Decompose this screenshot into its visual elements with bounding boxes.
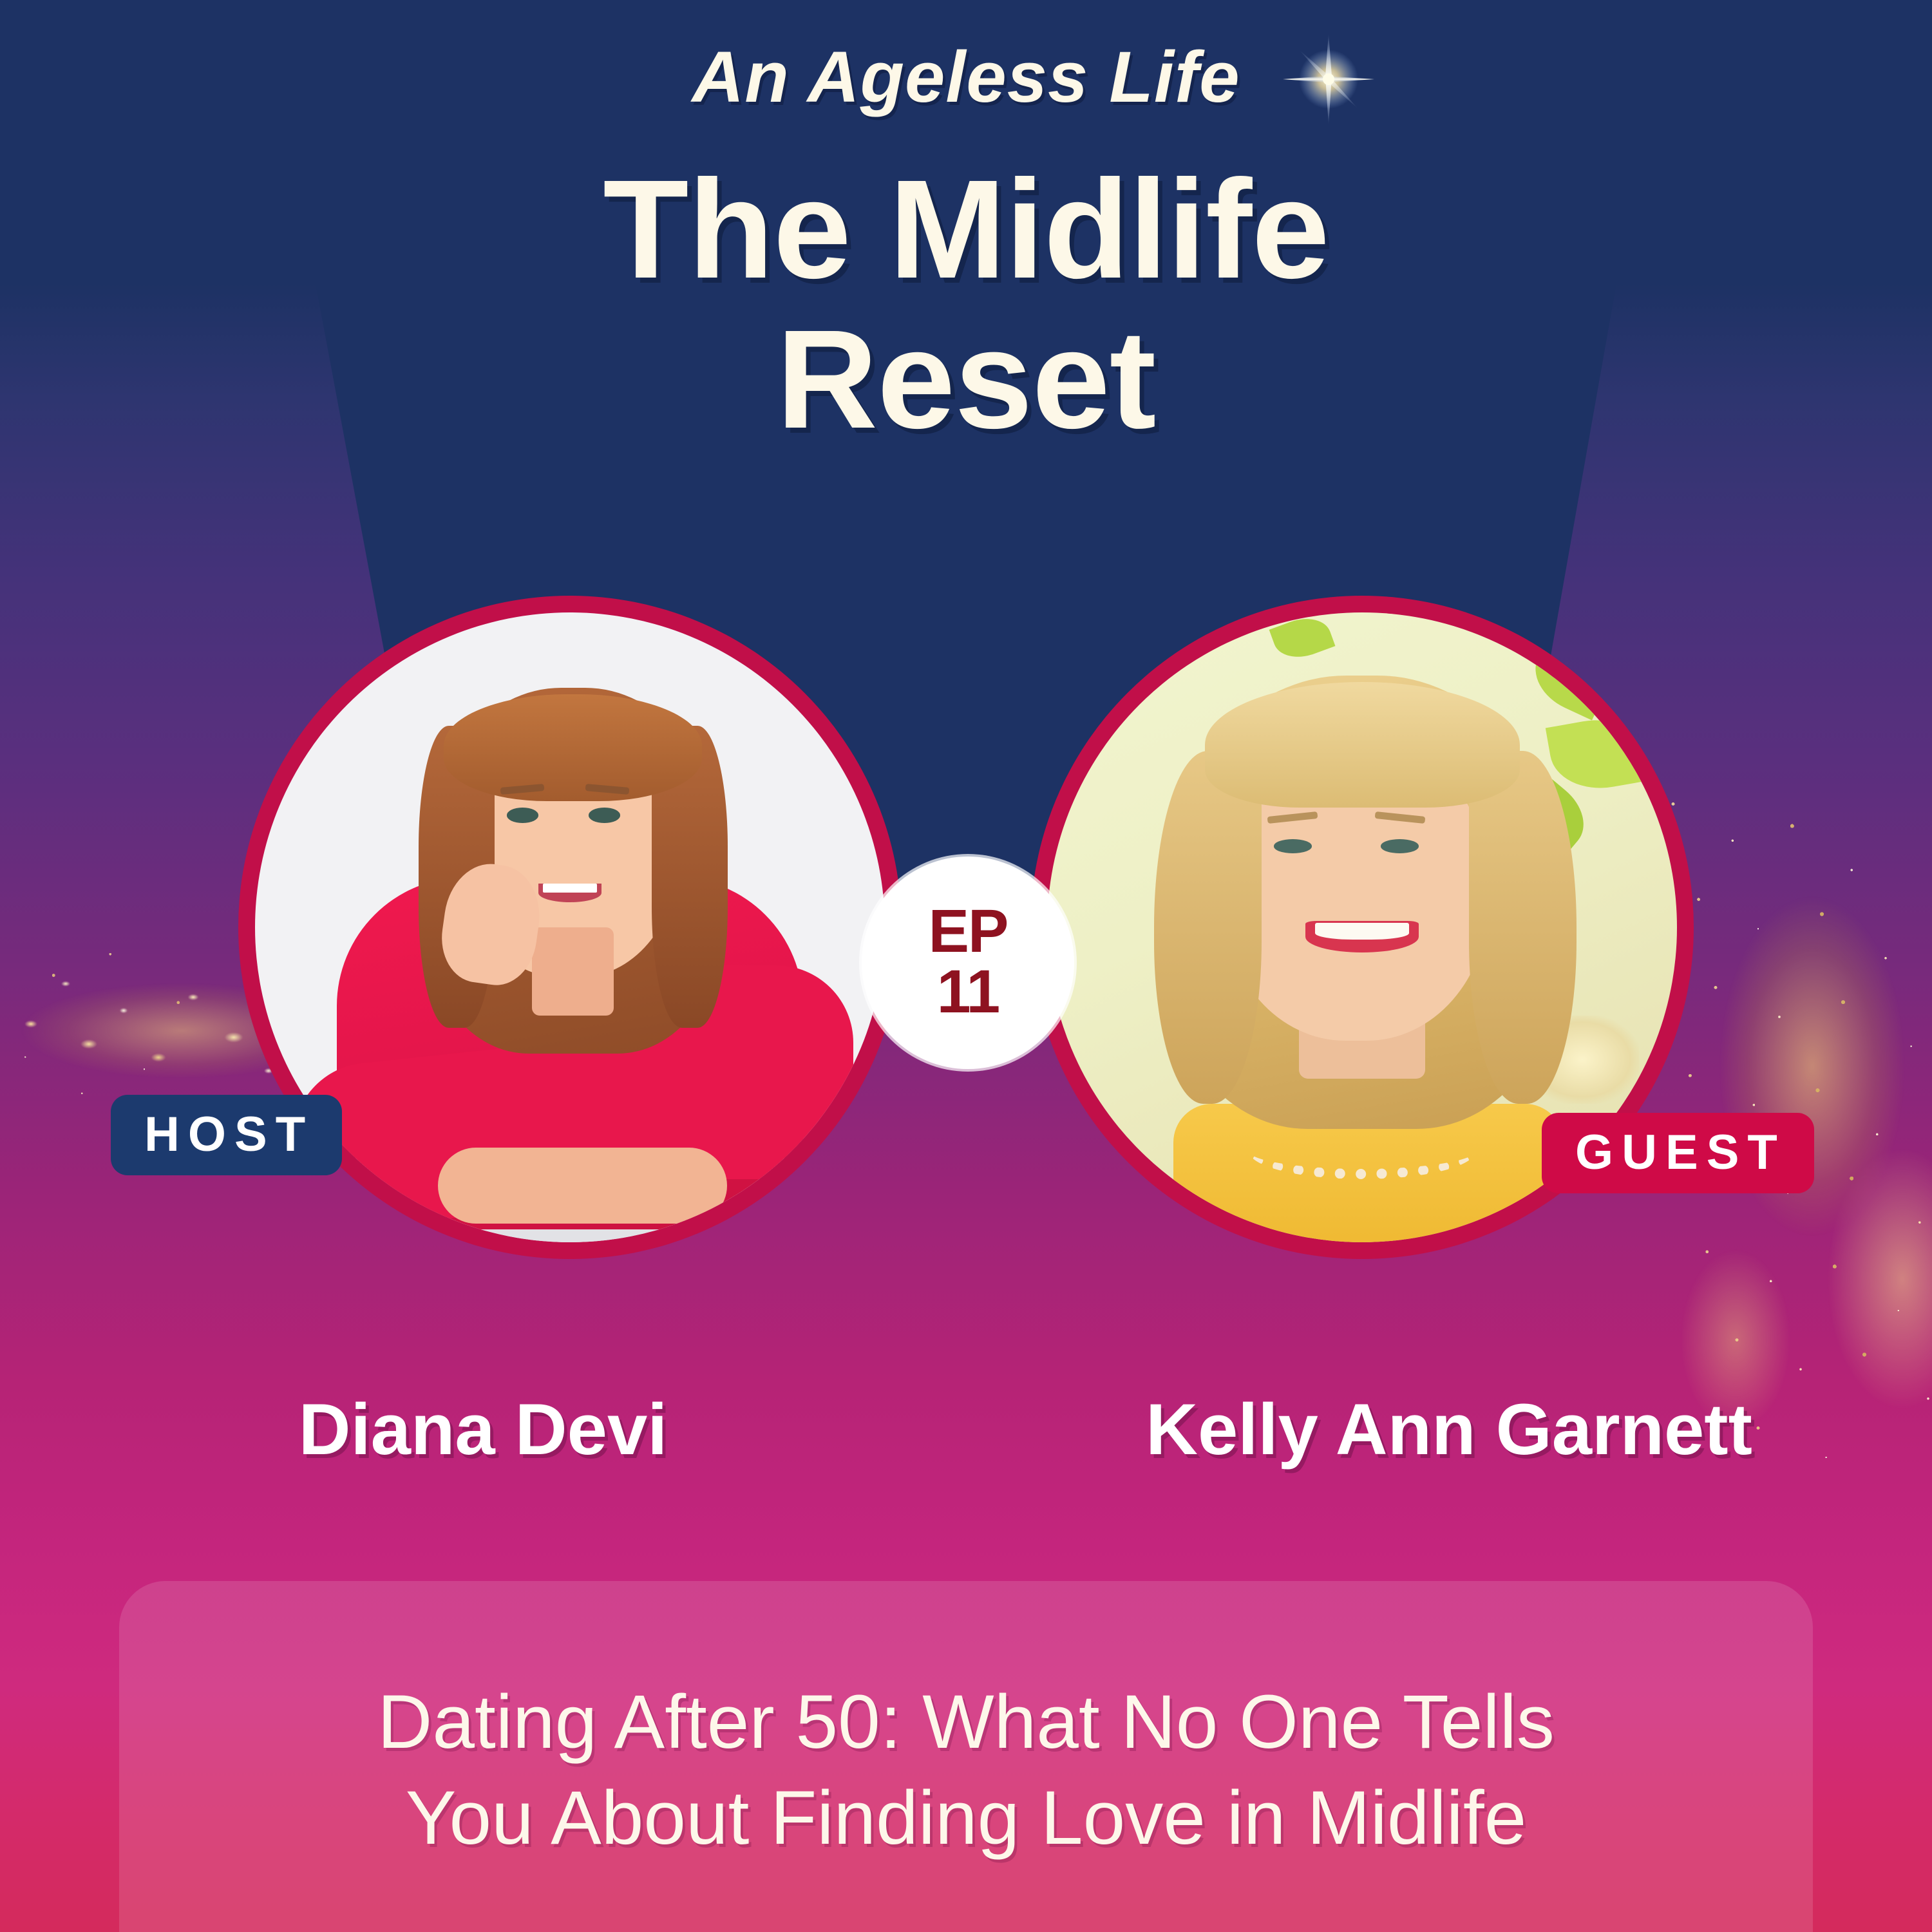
episode-title-line2: You About Finding Love in Midlife bbox=[119, 1770, 1813, 1866]
sparkle-star-icon bbox=[1280, 31, 1377, 128]
host-forearm bbox=[438, 1148, 728, 1223]
host-name: Diana Devi bbox=[0, 1388, 966, 1471]
status-badge-guest: GUEST bbox=[1542, 1113, 1814, 1193]
page-title: The Midlife Reset bbox=[0, 155, 1932, 455]
guest-hair-right bbox=[1469, 751, 1576, 1104]
host-eye-left bbox=[507, 808, 538, 822]
status-badge-host: HOST bbox=[111, 1095, 342, 1175]
episode-badge-label: EP bbox=[929, 902, 1008, 960]
show-name: An Ageless Life bbox=[0, 35, 1932, 118]
podcast-title-line2: Reset bbox=[0, 305, 1932, 455]
host-portrait-image bbox=[255, 612, 885, 1242]
episode-title: Dating After 50: What No One Tells You A… bbox=[119, 1674, 1813, 1866]
podcast-title-line1: The Midlife bbox=[0, 155, 1932, 305]
guest-teeth bbox=[1315, 923, 1410, 939]
episode-title-line1: Dating After 50: What No One Tells bbox=[119, 1674, 1813, 1770]
guest-hair-top bbox=[1205, 682, 1520, 808]
guest-hair-left bbox=[1154, 751, 1261, 1104]
host-teeth bbox=[543, 884, 597, 893]
episode-number-badge: EP 11 bbox=[862, 857, 1074, 1069]
guest-eye-right bbox=[1381, 839, 1419, 853]
guest-eye-left bbox=[1274, 839, 1312, 853]
host-bangs bbox=[444, 694, 702, 801]
host-eye-right bbox=[589, 808, 620, 822]
episode-badge-number: 11 bbox=[937, 961, 999, 1023]
podcast-cover-art: An Ageless Life The Midlife Reset bbox=[0, 0, 1932, 1932]
guest-pearl-necklace bbox=[1249, 1122, 1475, 1179]
guest-name: Kelly Ann Garnett bbox=[966, 1388, 1932, 1471]
host-neck bbox=[532, 927, 614, 1016]
